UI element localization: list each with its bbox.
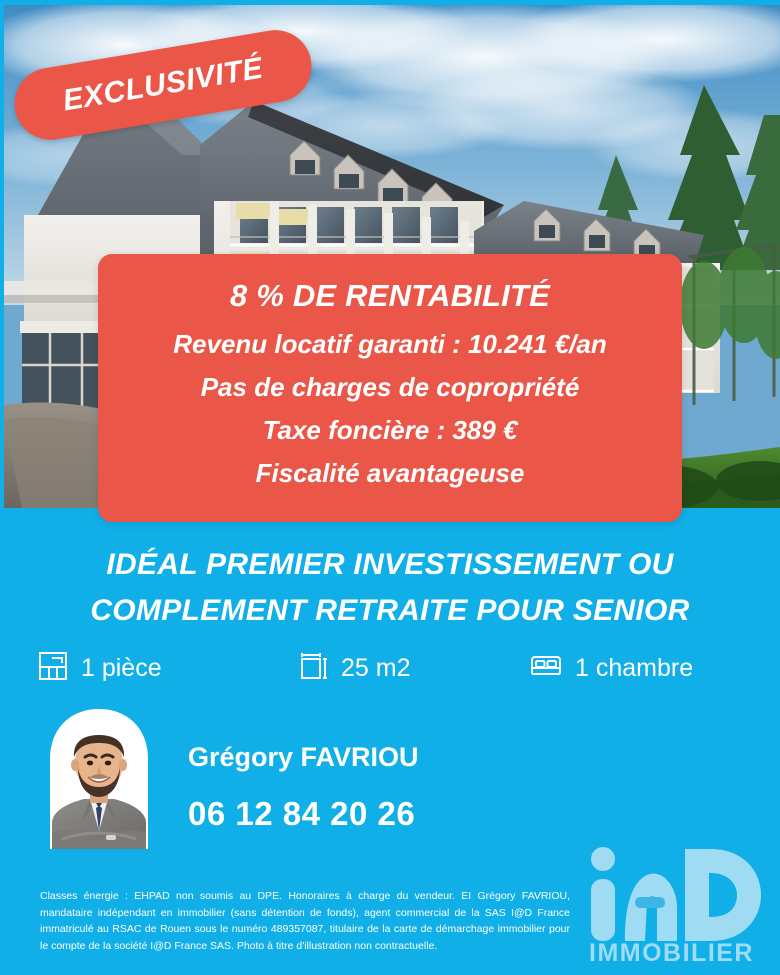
offer-yield: 8 % DE RENTABILITÉ <box>230 280 550 311</box>
headline-line-1: IDÉAL PREMIER INVESTISSEMENT OU <box>0 542 780 588</box>
offer-property-tax: Taxe foncière : 389 € <box>263 417 518 443</box>
agent-name: Grégory FAVRIOU <box>188 742 419 773</box>
iad-logo-wordmark: IMMOBILIER <box>589 939 754 965</box>
feature-surface-label: 25 m2 <box>341 654 410 683</box>
avatar <box>40 707 158 849</box>
iad-logo: IMMOBILIER <box>585 845 780 965</box>
feature-rooms: 1 pièce <box>38 648 162 688</box>
exclusivity-badge-label: EXCLUSIVITÉ <box>60 52 265 119</box>
offer-highlight-box: 8 % DE RENTABILITÉ Revenu locatif garant… <box>98 254 682 522</box>
headline: IDÉAL PREMIER INVESTISSEMENT OU COMPLEME… <box>0 542 780 633</box>
feature-surface: 25 m2 <box>300 648 410 688</box>
offer-no-condo-fees: Pas de charges de copropriété <box>201 374 580 400</box>
property-features: 1 pièce 25 m2 1 chambre <box>38 648 744 688</box>
agent-portrait <box>40 707 158 849</box>
iad-logo-mark: IMMOBILIER <box>585 845 780 965</box>
feature-bedrooms-label: 1 chambre <box>575 654 693 683</box>
surface-area-icon <box>300 651 328 686</box>
legal-disclaimer: Classes énergie : EHPAD non soumis au DP… <box>40 888 570 954</box>
offer-guaranteed-income: Revenu locatif garanti : 10.241 €/an <box>173 331 607 357</box>
feature-bedrooms: 1 chambre <box>530 648 693 688</box>
agent-phone[interactable]: 06 12 84 20 26 <box>188 795 415 833</box>
offer-tax-advantage: Fiscalité avantageuse <box>256 460 525 486</box>
bed-icon <box>530 654 562 683</box>
feature-rooms-label: 1 pièce <box>81 654 162 683</box>
floorplan-icon <box>38 651 68 686</box>
headline-line-2: COMPLEMENT RETRAITE POUR SENIOR <box>0 588 780 634</box>
